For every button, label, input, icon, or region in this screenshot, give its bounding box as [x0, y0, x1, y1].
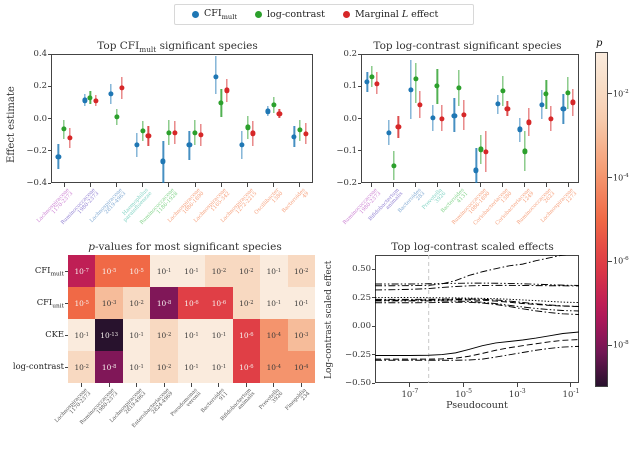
y-tick-mark	[48, 183, 52, 184]
y-tick-label: 0.50	[345, 264, 371, 274]
line-series-bottom-right	[375, 255, 579, 383]
x-tick-mark	[568, 183, 569, 187]
heatmap-cell: 10-1	[178, 319, 205, 351]
x-tick-mark	[415, 183, 416, 187]
x-tick-mark	[502, 183, 503, 187]
x-tick-mark	[168, 183, 169, 187]
y-tick-label: −0.2	[25, 146, 47, 156]
heatmap-column-label: Pseudomonasveronii	[170, 388, 203, 422]
heatmap-row-label: CFImult	[2, 265, 64, 278]
y-tick-mark	[48, 86, 52, 87]
column-tick-mark	[273, 383, 274, 387]
row-tick-mark	[65, 271, 69, 272]
y-tick-mark	[358, 183, 362, 184]
y-tick-label: 0.25	[345, 293, 371, 303]
heatmap-cell: 10-6	[233, 319, 260, 351]
heatmap-row-label: CFIunit	[2, 297, 64, 310]
panel-title-heatmap: p-values for most significant species	[55, 241, 315, 253]
heatmap-cell: 10-5	[68, 287, 95, 319]
line-series	[375, 302, 579, 314]
heatmap-cell: 10-4	[260, 351, 287, 383]
panel-title-top-right: Top log-contrast significant species	[350, 40, 585, 52]
x-tick-label: 10-3	[503, 388, 531, 400]
x-tick-mark	[517, 383, 518, 387]
x-tick-mark	[299, 183, 300, 187]
colorbar	[595, 52, 608, 387]
y-tick-mark	[48, 118, 52, 119]
axis-label-pseudocount: Pseudocount	[375, 400, 579, 411]
x-tick-mark	[195, 183, 196, 187]
plot-area-top-left	[51, 54, 313, 183]
legend-label: CFImult	[204, 8, 237, 21]
column-tick-mark	[191, 383, 192, 387]
panel-title-bottom-right: Top log-contrast scaled effects	[355, 241, 590, 253]
heatmap-cell: 10-1	[260, 255, 287, 287]
heatmap-cell: 10-6	[205, 287, 232, 319]
x-tick-mark	[273, 183, 274, 187]
heatmap-cell: 10-2	[233, 255, 260, 287]
heatmap-cell: 10-2	[233, 287, 260, 319]
y-tick-mark	[358, 150, 362, 151]
x-tick-mark	[437, 183, 438, 187]
column-tick-mark	[136, 383, 137, 387]
colorbar-tick-label: 10-2	[613, 89, 629, 99]
heatmap-cell: 10-1	[123, 319, 150, 351]
x-tick-mark	[371, 183, 372, 187]
error-bar	[415, 63, 416, 104]
y-tick-mark	[372, 269, 376, 270]
heatmap-cell: 10-1	[288, 287, 315, 319]
heatmap-cell: 10-1	[205, 319, 232, 351]
x-tick-label: 10-7	[396, 388, 424, 400]
heatmap-cell: 10-1	[178, 255, 205, 287]
heatmap-cell: 10-5	[95, 255, 122, 287]
heatmap-row-label: log-contrast	[2, 361, 64, 371]
figure-legend: CFImultlog-contrastMarginal L effect	[174, 4, 474, 25]
heatmap-cell: 10-1	[178, 351, 205, 383]
heatmap-cell: 10-1	[123, 351, 150, 383]
y-tick-label: 0.2	[335, 49, 357, 59]
heatmap-cell: 10-4	[288, 351, 315, 383]
heatmap-cell: 10-5	[123, 255, 150, 287]
colorbar-tick-label: 10-8	[613, 340, 629, 350]
heatmap-cell: 10-2	[150, 351, 177, 383]
y-tick-mark	[358, 118, 362, 119]
legend-dot-icon	[343, 11, 350, 18]
column-tick-mark	[164, 383, 165, 387]
colorbar-tick-mark	[608, 93, 612, 94]
line-series	[375, 340, 579, 360]
x-tick-mark	[524, 183, 525, 187]
x-tick-mark	[393, 183, 394, 187]
x-tick-mark	[90, 183, 91, 187]
legend-dot-icon	[255, 11, 262, 18]
panel-title-top-left: Top CFImult significant species	[40, 40, 315, 54]
heatmap-cell: 10-2	[68, 351, 95, 383]
colorbar-tick-mark	[608, 261, 612, 262]
heatmap-cell: 10-2	[288, 255, 315, 287]
heatmap-cell: 10-3	[288, 319, 315, 351]
y-tick-label: 0.2	[25, 81, 47, 91]
x-tick-mark	[546, 183, 547, 187]
axis-label-logcontrast-scaled-effect: Log-contrast scaled effect	[324, 250, 337, 390]
y-tick-label: 0.00	[345, 321, 371, 331]
heatmap-cell: 10-13	[95, 319, 122, 351]
legend-item-log-contrast: log-contrast	[255, 9, 325, 20]
y-tick-mark	[48, 54, 52, 55]
x-tick-mark	[221, 183, 222, 187]
heatmap-cell: 10-6	[178, 287, 205, 319]
x-tick-mark	[116, 183, 117, 187]
legend-label: Marginal L effect	[355, 9, 438, 20]
x-tick-mark	[409, 383, 410, 387]
legend-dot-icon	[192, 11, 199, 18]
x-tick-mark	[480, 183, 481, 187]
line-series	[375, 255, 579, 286]
x-tick-mark	[247, 183, 248, 187]
y-tick-mark	[48, 150, 52, 151]
y-tick-label: −0.50	[345, 378, 371, 388]
y-tick-mark	[372, 297, 376, 298]
colorbar-title: p	[596, 38, 602, 49]
x-tick-label: 10-1	[557, 388, 585, 400]
heatmap-cell: 10-1	[68, 319, 95, 351]
line-series	[375, 283, 579, 285]
x-tick-label: Oscillibacter1380	[254, 188, 285, 220]
row-tick-mark	[65, 335, 69, 336]
y-tick-mark	[372, 383, 376, 384]
heatmap-cell: 10-6	[233, 351, 260, 383]
column-tick-mark	[301, 383, 302, 387]
line-series	[375, 346, 579, 360]
y-tick-mark	[372, 354, 376, 355]
heatmap-row-label: CKE	[2, 329, 64, 339]
y-tick-label: 0.1	[335, 81, 357, 91]
y-tick-mark	[358, 86, 362, 87]
x-tick-mark	[64, 183, 65, 187]
x-tick-mark	[459, 183, 460, 187]
x-tick-label: 10-5	[450, 388, 478, 400]
y-tick-label: −0.4	[25, 178, 47, 188]
heatmap-column-label: Prevotella3926	[259, 388, 285, 415]
x-tick-mark	[463, 383, 464, 387]
colorbar-tick-label: 10-4	[613, 173, 629, 183]
column-tick-mark	[246, 383, 247, 387]
heatmap-cell: 10-1	[260, 287, 287, 319]
heatmap-cell: 10-2	[123, 287, 150, 319]
heatmap-cell: 10-7	[68, 255, 95, 287]
column-tick-mark	[218, 383, 219, 387]
y-tick-label: 0.0	[25, 114, 47, 124]
heatmap-cell: 10-4	[260, 319, 287, 351]
axis-label-effect-estimate: Effect estimate	[6, 75, 20, 175]
x-tick-label: Bacteroides49	[282, 188, 311, 218]
y-tick-label: −0.2	[335, 178, 357, 188]
colorbar-tick-label: 10-6	[613, 256, 629, 266]
row-tick-mark	[65, 303, 69, 304]
heatmap-cell: 10-8	[150, 287, 177, 319]
heatmap-cell: 10-8	[95, 351, 122, 383]
y-tick-label: −0.1	[335, 146, 357, 156]
heatmap-cell: 10-1	[150, 255, 177, 287]
x-tick-mark	[570, 383, 571, 387]
x-tick-mark	[142, 183, 143, 187]
error-bar	[476, 148, 477, 183]
heatmap-cell: 10-1	[205, 351, 232, 383]
column-tick-mark	[109, 383, 110, 387]
heatmap-cell: 10-2	[205, 255, 232, 287]
legend-item-marginal-l-effect: Marginal L effect	[343, 9, 438, 20]
legend-label: log-contrast	[267, 9, 325, 20]
y-tick-label: −0.25	[345, 350, 371, 360]
colorbar-tick-mark	[608, 345, 612, 346]
colorbar-tick-mark	[608, 177, 612, 178]
line-series	[375, 332, 579, 355]
heatmap-column-label: Finegoldia234	[285, 388, 312, 416]
y-tick-mark	[372, 326, 376, 327]
column-tick-mark	[81, 383, 82, 387]
legend-item-cfi-mult: CFImult	[192, 8, 237, 21]
heatmap-cell: 10-2	[150, 319, 177, 351]
y-tick-mark	[358, 54, 362, 55]
figure-canvas: CFImultlog-contrastMarginal L effect Top…	[0, 0, 644, 451]
heatmap-cell: 10-3	[95, 287, 122, 319]
y-tick-label: 0.0	[335, 114, 357, 124]
y-tick-label: 0.4	[25, 49, 47, 59]
row-tick-mark	[65, 367, 69, 368]
